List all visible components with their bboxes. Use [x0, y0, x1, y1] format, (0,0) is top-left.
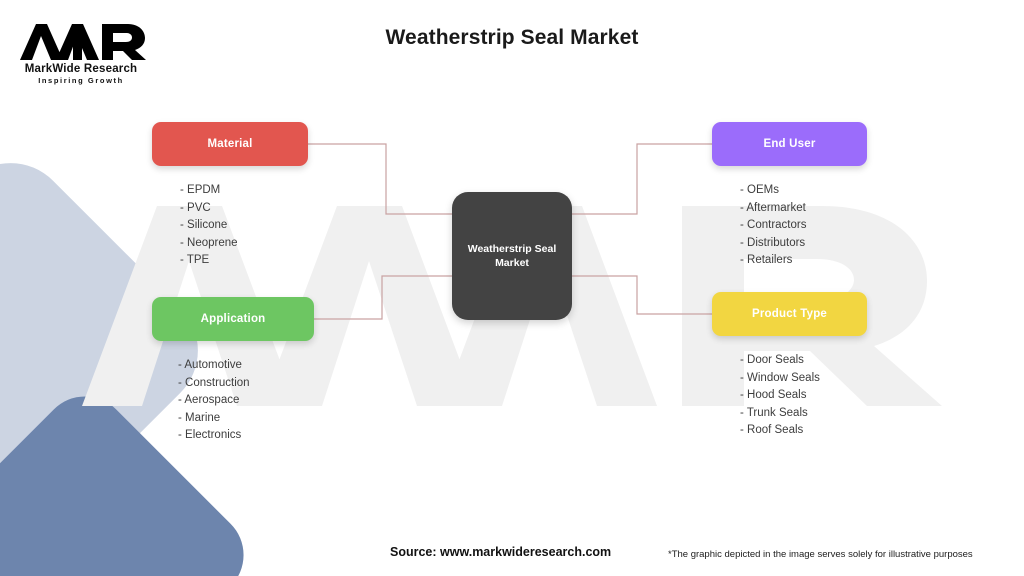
- center-node-label: Weatherstrip Seal Market: [460, 242, 565, 270]
- category-product-type-label: Product Type: [752, 308, 827, 320]
- list-item: - Window Seals: [740, 370, 867, 388]
- logo-tagline: Inspiring Growth: [16, 76, 146, 85]
- category-material-list: - EPDM - PVC - Silicone - Neoprene - TPE: [180, 182, 308, 270]
- category-application-list: - Automotive - Construction - Aerospace …: [178, 357, 314, 445]
- list-item: - Silicone: [180, 217, 308, 235]
- list-item: - Automotive: [178, 357, 314, 375]
- category-end-user-list: - OEMs - Aftermarket - Contractors - Dis…: [740, 182, 867, 270]
- logo-company-name: MarkWide Research: [16, 63, 146, 75]
- page-title: Weatherstrip Seal Market: [0, 26, 1024, 50]
- footer-source: Source: www.markwideresearch.com: [390, 545, 611, 559]
- list-item: - EPDM: [180, 182, 308, 200]
- list-item: - OEMs: [740, 182, 867, 200]
- list-item: - Contractors: [740, 217, 867, 235]
- footer-disclaimer: *The graphic depicted in the image serve…: [668, 549, 973, 560]
- list-item: - Door Seals: [740, 352, 867, 370]
- list-item: - Aerospace: [178, 392, 314, 410]
- list-item: - Distributors: [740, 235, 867, 253]
- list-item: - Roof Seals: [740, 422, 867, 440]
- list-item: - Hood Seals: [740, 387, 867, 405]
- category-end-user-pill[interactable]: End User: [712, 122, 867, 166]
- category-application-pill[interactable]: Application: [152, 297, 314, 341]
- list-item: - Trunk Seals: [740, 405, 867, 423]
- list-item: - TPE: [180, 252, 308, 270]
- list-item: - Retailers: [740, 252, 867, 270]
- center-node-line-1: Weatherstrip Seal: [468, 243, 557, 255]
- category-material: Material - EPDM - PVC - Silicone - Neopr…: [152, 122, 308, 286]
- infographic-canvas: MarkWide Research Inspiring Growth Weath…: [0, 0, 1024, 576]
- list-item: - Aftermarket: [740, 200, 867, 218]
- category-product-type-pill[interactable]: Product Type: [712, 292, 867, 336]
- category-product-type: Product Type - Door Seals - Window Seals…: [712, 292, 867, 456]
- category-application-label: Application: [201, 313, 266, 325]
- list-item: - Neoprene: [180, 235, 308, 253]
- list-item: - Marine: [178, 410, 314, 428]
- category-product-type-list: - Door Seals - Window Seals - Hood Seals…: [740, 352, 867, 440]
- list-item: - PVC: [180, 200, 308, 218]
- category-material-pill[interactable]: Material: [152, 122, 308, 166]
- category-application: Application - Automotive - Construction …: [152, 297, 314, 461]
- category-material-label: Material: [207, 138, 252, 150]
- list-item: - Construction: [178, 375, 314, 393]
- category-end-user-label: End User: [763, 138, 815, 150]
- center-node-line-2: Market: [495, 257, 529, 269]
- center-node[interactable]: Weatherstrip Seal Market: [452, 192, 572, 320]
- list-item: - Electronics: [178, 427, 314, 445]
- category-end-user: End User - OEMs - Aftermarket - Contract…: [712, 122, 867, 286]
